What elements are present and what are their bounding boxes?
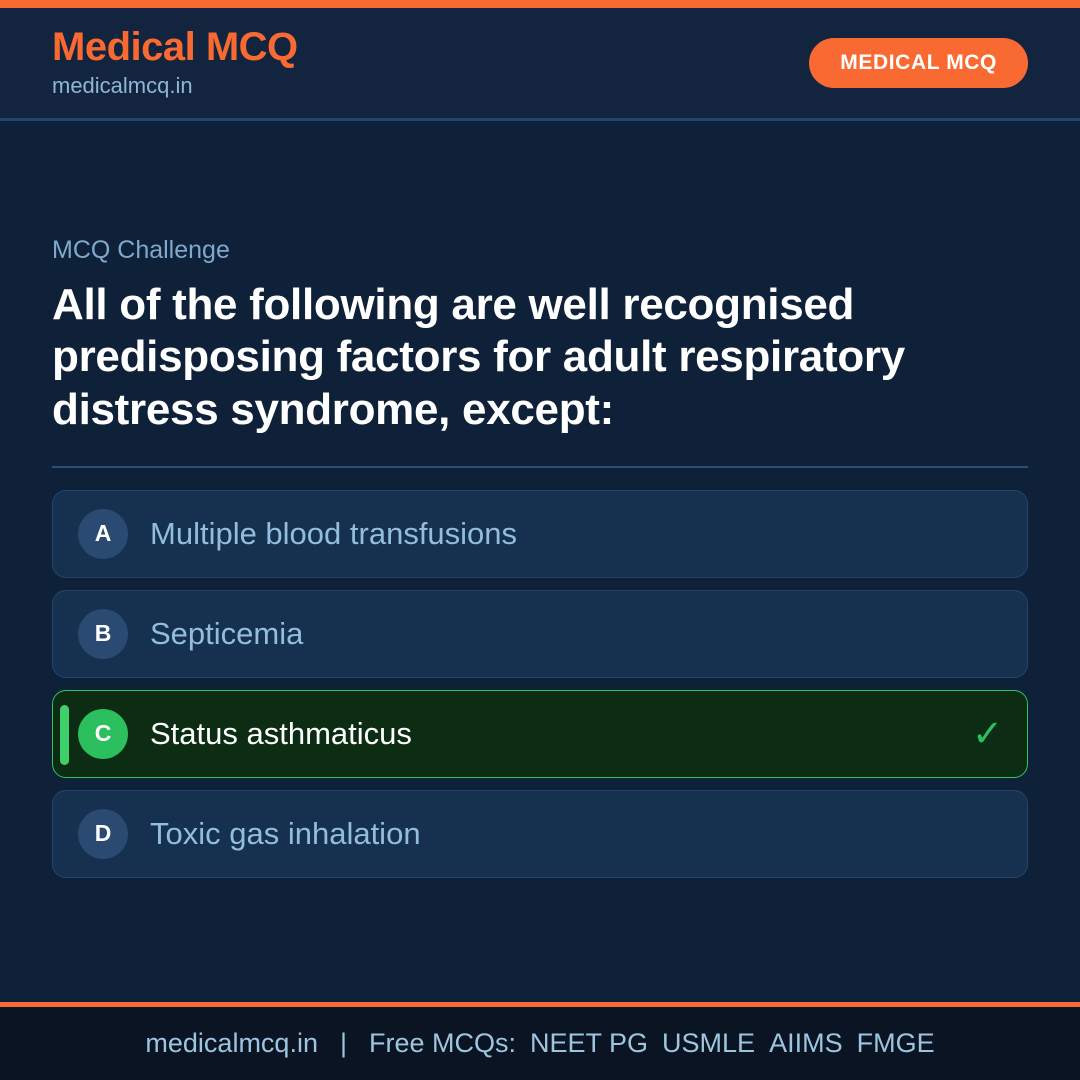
footer-exam-usmle[interactable]: USMLE [662, 1028, 755, 1059]
option-a[interactable]: A Multiple blood transfusions ✓ [52, 490, 1028, 578]
footer-content: medicalmcq.in | Free MCQs: NEET PG USMLE… [145, 1028, 934, 1059]
option-label: Status asthmaticus [150, 716, 972, 752]
option-b[interactable]: B Septicemia ✓ [52, 590, 1028, 678]
option-letter-badge: C [78, 709, 128, 759]
top-accent-bar [0, 0, 1080, 8]
footer: medicalmcq.in | Free MCQs: NEET PG USMLE… [0, 1002, 1080, 1080]
mcq-card: Medical MCQ medicalmcq.in MEDICAL MCQ MC… [0, 0, 1080, 1080]
footer-exam-aiims[interactable]: AIIMS [769, 1028, 843, 1059]
brand: Medical MCQ medicalmcq.in [52, 26, 298, 100]
footer-exam-fmge[interactable]: FMGE [857, 1028, 935, 1059]
option-letter-badge: B [78, 609, 128, 659]
option-label: Toxic gas inhalation [150, 816, 972, 852]
footer-site-link[interactable]: medicalmcq.in [145, 1028, 318, 1059]
main-content: MCQ Challenge All of the following are w… [0, 121, 1080, 1002]
option-letter-badge: D [78, 809, 128, 859]
footer-separator: | [340, 1028, 347, 1059]
question-text: All of the following are well recognised… [52, 279, 1028, 437]
header-badge[interactable]: MEDICAL MCQ [809, 38, 1028, 88]
brand-title: Medical MCQ [52, 26, 298, 69]
options-list: A Multiple blood transfusions ✓ B Septic… [52, 490, 1028, 878]
option-letter-badge: A [78, 509, 128, 559]
section-eyebrow: MCQ Challenge [52, 237, 1028, 265]
correct-accent-bar [60, 705, 69, 765]
footer-label: Free MCQs: [369, 1028, 516, 1059]
option-d[interactable]: D Toxic gas inhalation ✓ [52, 790, 1028, 878]
option-c[interactable]: C Status asthmaticus ✓ [52, 690, 1028, 778]
footer-exam-neet-pg[interactable]: NEET PG [530, 1028, 648, 1059]
check-icon: ✓ [972, 715, 1003, 752]
option-label: Septicemia [150, 616, 972, 652]
brand-subtitle: medicalmcq.in [52, 72, 298, 100]
header: Medical MCQ medicalmcq.in MEDICAL MCQ [0, 8, 1080, 121]
option-label: Multiple blood transfusions [150, 516, 972, 552]
question-divider [52, 466, 1028, 468]
